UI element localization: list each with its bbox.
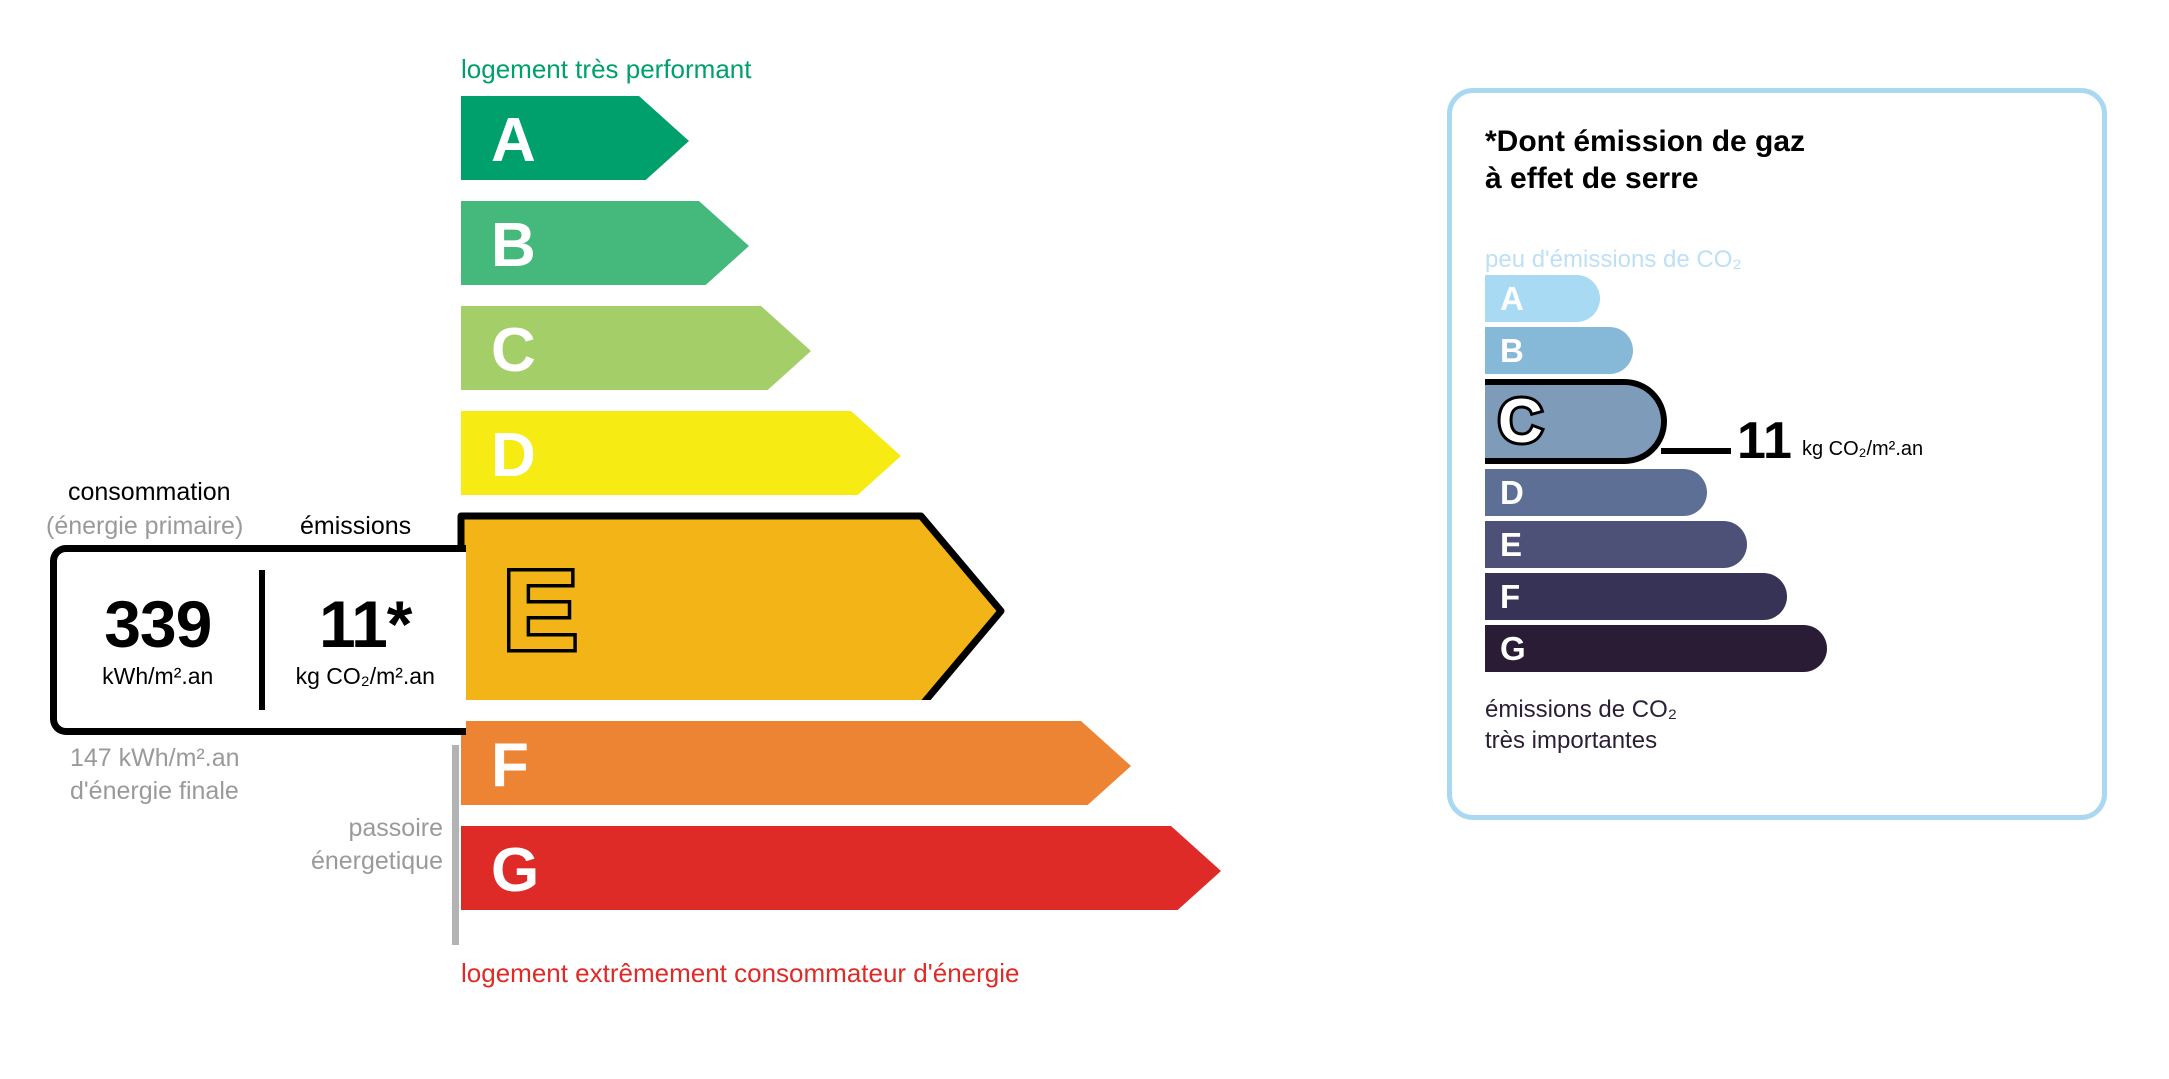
co2-bar-letter-g: G (1485, 625, 1526, 672)
consumption-value: 339 (104, 590, 211, 659)
energy-bar-letter-a: A (461, 96, 536, 186)
co2-bar-row-a: A (1485, 275, 1827, 322)
energy-bar-g: G (461, 826, 1221, 916)
energy-bar-list: ABCDEFG (461, 96, 1221, 931)
co2-bar-row-g: G (1485, 625, 1827, 672)
emissions-header: émissions (300, 512, 411, 541)
energy-bar-row-c: C (461, 306, 1221, 396)
co2-title-line-1: *Dont émission de gaz (1485, 124, 1805, 161)
consumption-subheader: (énergie primaire) (46, 512, 243, 541)
consumption-cell: 339 kWh/m².an (57, 552, 259, 728)
dpe-label: logement très performant ABCDEFG logemen… (0, 0, 2169, 1079)
co2-bar-f: F (1485, 573, 1787, 620)
co2-bar-letter-f: F (1485, 573, 1520, 620)
co2-top-caption: peu d'émissions de CO₂ (1485, 246, 1742, 274)
passoire-bracket (452, 745, 459, 945)
emissions-cell: 11* kg CO₂/m².an (259, 570, 467, 710)
energy-bar-row-f: F (461, 721, 1221, 811)
energy-bar-letter-c: C (461, 306, 536, 396)
energy-bar-e: E (461, 516, 1001, 706)
energy-bar-a: A (461, 96, 689, 186)
co2-bar-letter-c: C (1485, 385, 1543, 459)
energy-bar-letter-g: G (461, 826, 539, 916)
emissions-value: 11* (319, 590, 411, 659)
energy-bar-shape-f (455, 715, 1137, 805)
co2-bar-e: E (1485, 521, 1747, 568)
energy-bar-c: C (461, 306, 811, 396)
co2-bottom-line-2: très importantes (1485, 726, 1677, 757)
energy-bar-letter-b: B (461, 201, 536, 291)
energy-bar-row-a: A (461, 96, 1221, 186)
co2-value: 11 (1737, 411, 1792, 471)
co2-title-line-2: à effet de serre (1485, 161, 1805, 198)
passoire-note: passoire énergetique (283, 812, 443, 879)
energy-bar-row-e: E (461, 516, 1221, 706)
energy-bar-f: F (461, 721, 1131, 811)
passoire-line-1: passoire (283, 812, 443, 845)
co2-bar-row-d: D (1485, 469, 1827, 516)
co2-bar-letter-e: E (1485, 521, 1522, 568)
energy-bottom-caption: logement extrêmement consommateur d'éner… (461, 958, 1019, 989)
co2-bar-letter-d: D (1485, 469, 1524, 516)
consumption-header: consommation (68, 478, 231, 507)
energy-bar-d: D (461, 411, 901, 501)
co2-bar-row-b: B (1485, 327, 1827, 374)
energy-bar-letter-d: D (461, 411, 536, 501)
final-energy-note: 147 kWh/m².an d'énergie finale (70, 742, 240, 809)
energy-bar-shape-g (455, 820, 1227, 910)
co2-bar-list: ABCDEFG (1485, 275, 1827, 677)
co2-leader-line (1661, 448, 1731, 454)
co2-bar-b: B (1485, 327, 1633, 374)
final-energy-value: 147 kWh/m².an (70, 742, 240, 775)
co2-bottom-line-1: émissions de CO₂ (1485, 695, 1677, 726)
co2-bar-row-f: F (1485, 573, 1827, 620)
co2-bar-g: G (1485, 625, 1827, 672)
co2-bar-row-e: E (1485, 521, 1827, 568)
energy-bar-letter-f: F (461, 721, 529, 811)
energy-performance-chart: logement très performant ABCDEFG logemen… (0, 0, 1300, 1079)
co2-bar-letter-b: B (1485, 327, 1524, 374)
co2-panel: *Dont émission de gaz à effet de serre p… (1447, 88, 2107, 820)
co2-bar-a: A (1485, 275, 1600, 322)
energy-bar-letter-e: E (461, 516, 578, 706)
energy-bar-b: B (461, 201, 749, 291)
value-box: 339 kWh/m².an 11* kg CO₂/m².an (50, 545, 466, 735)
emissions-unit: kg CO₂/m².an (296, 663, 435, 690)
energy-top-caption: logement très performant (461, 54, 751, 85)
co2-bottom-caption: émissions de CO₂ très importantes (1485, 695, 1677, 756)
consumption-unit: kWh/m².an (102, 663, 213, 690)
energy-bar-row-g: G (461, 826, 1221, 916)
passoire-line-2: énergetique (283, 845, 443, 878)
energy-bar-row-d: D (461, 411, 1221, 501)
co2-title: *Dont émission de gaz à effet de serre (1485, 124, 1805, 197)
co2-bar-d: D (1485, 469, 1707, 516)
co2-bar-c: C (1485, 379, 1667, 464)
co2-bar-letter-a: A (1485, 275, 1524, 322)
co2-value-unit: kg CO₂/m².an (1802, 438, 1923, 461)
energy-bar-row-b: B (461, 201, 1221, 291)
final-energy-label: d'énergie finale (70, 775, 240, 808)
